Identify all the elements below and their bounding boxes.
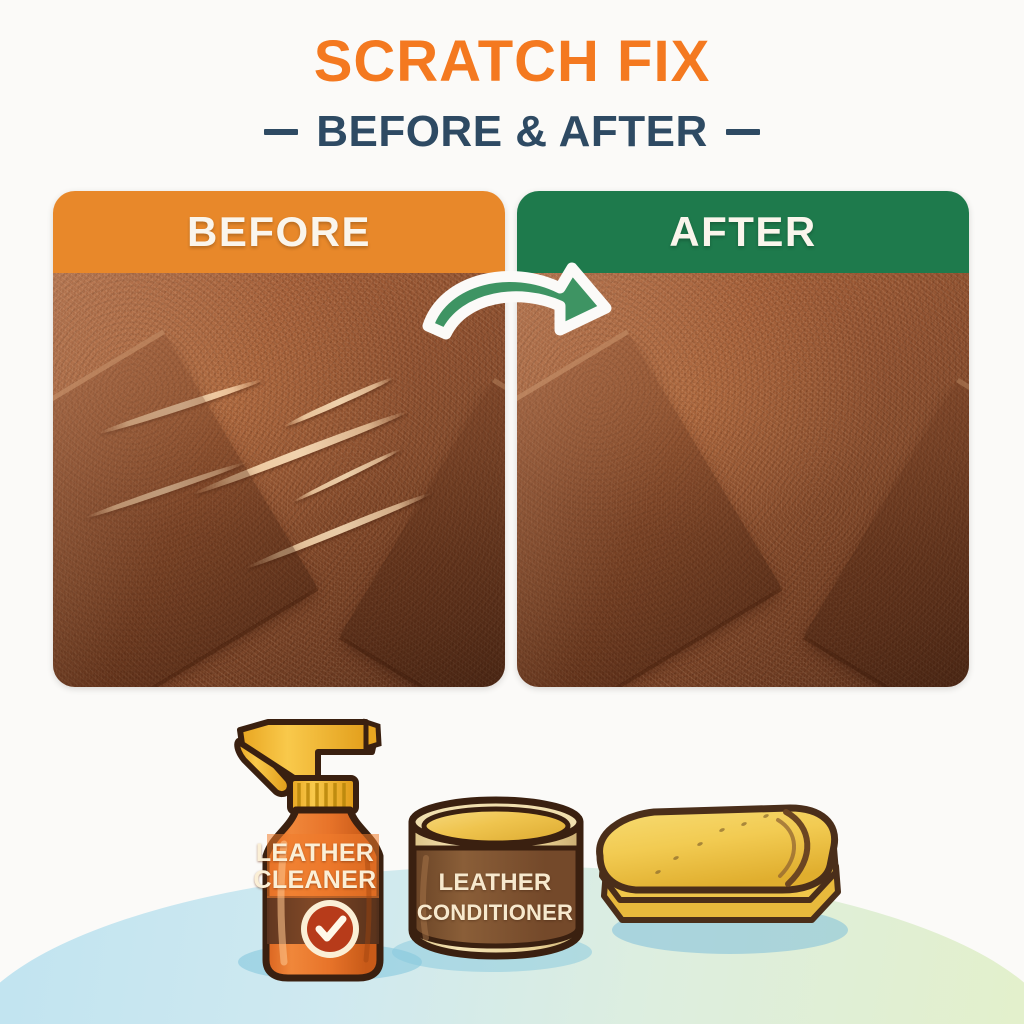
leather-cleaner-bottle[interactable] [237, 722, 380, 978]
polishing-cloth[interactable] [600, 808, 838, 920]
jar-contents [424, 809, 568, 843]
leather-conditioner-jar[interactable] [412, 800, 580, 956]
check-badge [307, 906, 353, 952]
product-lineup: LEATHER CLEANER LEATHER CONDITIONER [0, 0, 1024, 1024]
